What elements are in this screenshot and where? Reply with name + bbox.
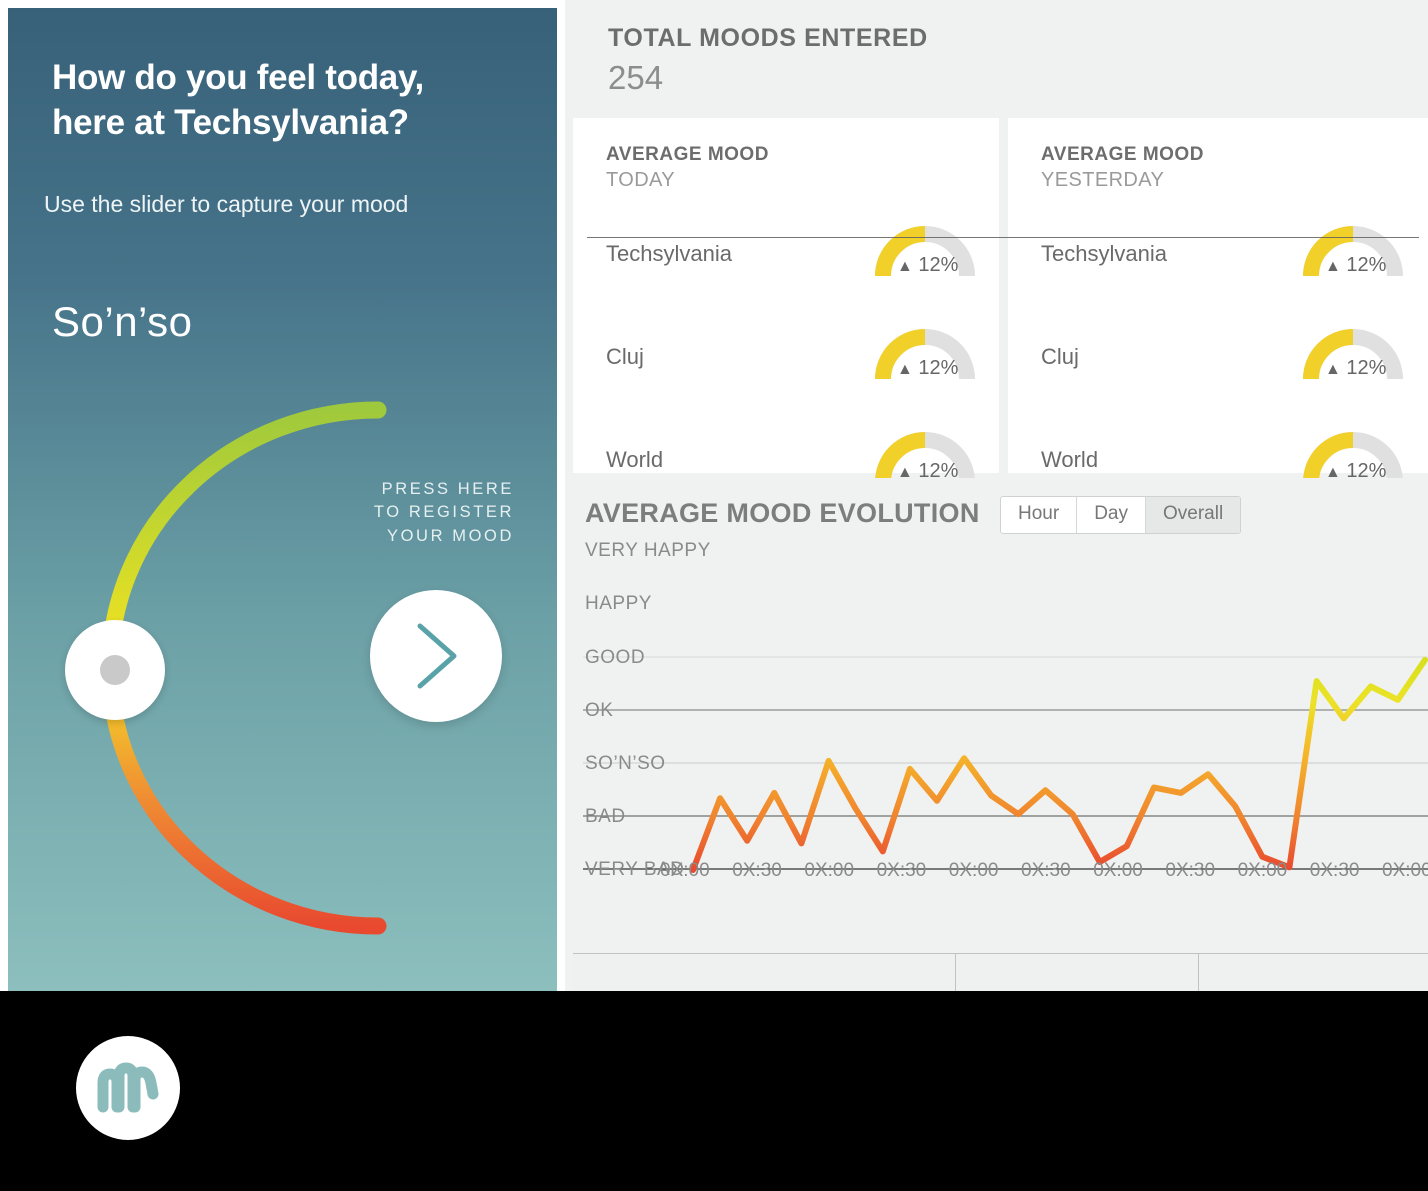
y-label-happy: HAPPY — [585, 593, 652, 615]
gauge: ▲ 12% — [870, 218, 980, 280]
trend-up-icon: ▲ — [897, 361, 913, 378]
average-row: Cluj ▲ 12% — [1008, 316, 1428, 420]
gauge: ▲ 12% — [870, 321, 980, 383]
mood-capture-panel: How do you feel today,here at Techsylvan… — [8, 8, 557, 991]
app-root: How do you feel today,here at Techsylvan… — [0, 0, 1428, 1191]
delta-value: ▲ 12% — [1325, 254, 1386, 277]
x-tick-label: 0X:30 — [1310, 860, 1360, 882]
x-tick-label: 0X:30 — [1021, 860, 1071, 882]
mood-headline: How do you feel today,here at Techsylvan… — [52, 56, 522, 146]
range-option-overall[interactable]: Overall — [1146, 497, 1240, 533]
total-moods-label: TOTAL MOODS ENTERED — [608, 24, 928, 53]
bottom-panel-strip — [573, 953, 1428, 991]
y-label-good: GOOD — [585, 647, 645, 669]
y-label-bad: BAD — [585, 806, 626, 828]
strip-divider — [955, 954, 956, 992]
mood-evolution-plot: VERY HAPPY HAPPY GOOD OK SO’N’SO BAD VER… — [573, 540, 1428, 880]
card-period: YESTERDAY — [1041, 169, 1164, 192]
range-toggle[interactable]: Hour Day Overall — [1000, 496, 1241, 534]
x-tick-label: 0X:00 — [1093, 860, 1143, 882]
card-period: TODAY — [606, 169, 675, 192]
stats-dashboard: TOTAL MOODS ENTERED 254 AVERAGE MOOD TOD… — [565, 0, 1428, 991]
y-label-very-happy: VERY HAPPY — [585, 540, 711, 562]
delta-value: ▲ 12% — [1325, 357, 1386, 380]
x-tick-label: 0X:00 — [804, 860, 854, 882]
slider-handle-dot — [100, 655, 130, 685]
mood-evolution-card: AVERAGE MOOD EVOLUTION Hour Day Overall — [573, 478, 1428, 953]
region-name: World — [1041, 447, 1098, 473]
region-name: World — [606, 447, 663, 473]
card-title: AVERAGE MOOD — [1041, 144, 1204, 166]
trend-up-icon: ▲ — [1325, 361, 1341, 378]
trend-up-icon: ▲ — [897, 258, 913, 275]
card-title: AVERAGE MOOD — [606, 144, 769, 166]
region-name: Techsylvania — [606, 241, 732, 267]
chart-title: AVERAGE MOOD EVOLUTION — [585, 498, 980, 529]
average-row: Techsylvania ▲ 12% — [1008, 213, 1428, 317]
gauge: ▲ 12% — [870, 424, 980, 486]
total-moods-block: TOTAL MOODS ENTERED 254 — [608, 24, 928, 97]
strip-divider — [1198, 954, 1199, 992]
average-row: Techsylvania ▲ 12% — [573, 213, 999, 317]
register-mood-button[interactable] — [370, 590, 502, 722]
press-here-label: PRESS HERETO REGISTERYOUR MOOD — [314, 478, 514, 548]
x-tick-label: 0X:00 — [949, 860, 999, 882]
mood-subtitle: Use the slider to capture your mood — [44, 190, 524, 220]
delta-value: ▲ 12% — [897, 357, 958, 380]
total-moods-value: 254 — [608, 59, 928, 97]
range-option-hour[interactable]: Hour — [1001, 497, 1077, 533]
mood-slider-handle[interactable] — [65, 620, 165, 720]
gauge: ▲ 12% — [1298, 218, 1408, 280]
region-name: Cluj — [1041, 344, 1079, 370]
x-tick-label: 0X:00 — [1238, 860, 1288, 882]
average-row: Cluj ▲ 12% — [573, 316, 999, 420]
current-mood-value: So’n’so — [52, 298, 193, 346]
trend-up-icon: ▲ — [1325, 258, 1341, 275]
average-mood-yesterday-card: AVERAGE MOOD YESTERDAY Techsylvania ▲ 12… — [1008, 118, 1428, 473]
range-option-day[interactable]: Day — [1077, 497, 1146, 533]
mood-wave-logo — [76, 1036, 180, 1140]
delta-value: ▲ 12% — [897, 254, 958, 277]
region-name: Cluj — [606, 344, 644, 370]
x-tick-label: 0X:00 — [660, 860, 710, 882]
gauge: ▲ 12% — [1298, 321, 1408, 383]
footer-bar: ON! betfair ROMANIA DEVELOPMENT GOOD MOO… — [0, 991, 1428, 1191]
y-label-ok: OK — [585, 700, 613, 722]
region-name: Techsylvania — [1041, 241, 1167, 267]
average-mood-today-card: AVERAGE MOOD TODAY Techsylvania ▲ 12% Cl… — [573, 118, 999, 473]
row-divider-line — [587, 237, 1419, 238]
x-tick-label: 0X:30 — [732, 860, 782, 882]
x-tick-label: 0X:00 — [1382, 860, 1428, 882]
x-tick-label: 0X:30 — [1165, 860, 1215, 882]
x-tick-label: 0X:30 — [877, 860, 927, 882]
y-label-sonso: SO’N’SO — [585, 753, 666, 775]
gauge: ▲ 12% — [1298, 424, 1408, 486]
chevron-right-icon — [410, 620, 462, 692]
